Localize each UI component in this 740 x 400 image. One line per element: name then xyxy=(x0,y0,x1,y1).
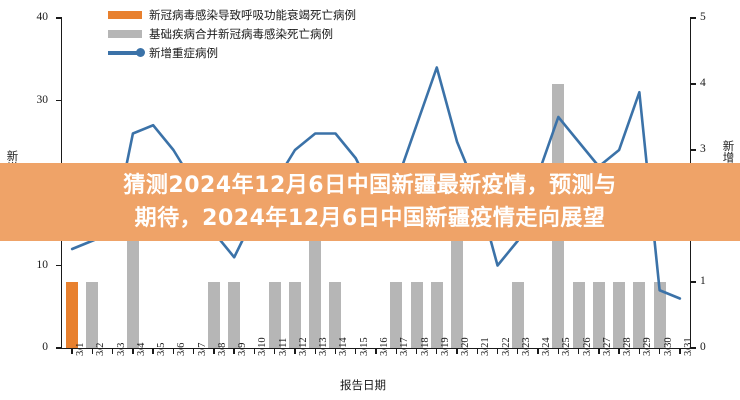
overlay-banner: 猜测2024年12月6日中国新疆最新疫情，预测与 期待，2024年12月6日中国… xyxy=(0,163,740,241)
x-tick xyxy=(497,349,498,354)
x-tick xyxy=(558,349,559,354)
x-tick xyxy=(618,349,619,354)
x-tick xyxy=(254,349,255,354)
x-tick-label-3-31: 3/31 xyxy=(684,337,695,356)
x-tick xyxy=(477,349,478,354)
chart-legend: 新冠病毒感染导致呼吸功能衰竭死亡病例基础疾病合并新冠病毒感染死亡病例新增重症病例 xyxy=(108,6,356,63)
legend-label: 基础疾病合并新冠病毒感染死亡病例 xyxy=(149,26,333,42)
x-tick-label-3-27: 3/27 xyxy=(603,337,614,356)
x-tick xyxy=(315,349,316,354)
x-tick-label-3-13: 3/13 xyxy=(319,337,330,356)
x-tick-label-3-10: 3/10 xyxy=(258,337,269,356)
y-tick-left xyxy=(56,347,62,348)
x-tick xyxy=(112,349,113,354)
y-tick-label-right: 1 xyxy=(700,276,730,288)
x-tick-label-3-28: 3/28 xyxy=(623,337,634,356)
x-tick xyxy=(355,349,356,354)
x-tick xyxy=(233,349,234,354)
x-tick-label-3-26: 3/26 xyxy=(583,337,594,356)
x-tick-label-3-18: 3/18 xyxy=(421,337,432,356)
x-tick-label-3-14: 3/14 xyxy=(339,337,350,356)
x-tick xyxy=(335,349,336,354)
y-tick-label-right: 0 xyxy=(700,342,730,354)
x-tick-label-3-4: 3/4 xyxy=(137,343,148,356)
y-tick-left xyxy=(56,17,62,18)
x-tick xyxy=(294,349,295,354)
watermark: @淡斋达原 xyxy=(606,372,709,396)
x-tick xyxy=(659,349,660,354)
x-tick xyxy=(456,349,457,354)
y-tick-label-left: 40 xyxy=(18,12,48,24)
banner-line-1: 猜测2024年12月6日中国新疆最新疫情，预测与 xyxy=(123,169,616,202)
weibo-icon xyxy=(606,373,625,396)
x-tick xyxy=(639,349,640,354)
x-tick-label-3-29: 3/29 xyxy=(643,337,654,356)
y-tick-right xyxy=(690,281,696,282)
x-tick-label-3-6: 3/6 xyxy=(177,343,188,356)
y-tick-label-right: 5 xyxy=(700,12,730,24)
y-tick-right xyxy=(690,83,696,84)
y-tick-label-right: 4 xyxy=(700,78,730,90)
x-tick xyxy=(396,349,397,354)
x-tick xyxy=(92,349,93,354)
x-tick-label-3-8: 3/8 xyxy=(218,343,229,356)
x-tick xyxy=(152,349,153,354)
x-tick-label-3-21: 3/21 xyxy=(481,337,492,356)
x-tick-label-3-7: 3/7 xyxy=(198,343,209,356)
y-tick-label-left: 30 xyxy=(18,95,48,107)
legend-swatch-bar xyxy=(108,11,142,19)
x-tick-label-3-23: 3/23 xyxy=(522,337,533,356)
x-tick xyxy=(537,349,538,354)
watermark-text: @淡斋达原 xyxy=(629,372,709,396)
legend-label: 新冠病毒感染导致呼吸功能衰竭死亡病例 xyxy=(149,7,356,23)
x-tick-label-3-11: 3/11 xyxy=(279,338,290,356)
x-tick-label-3-12: 3/12 xyxy=(299,337,310,356)
x-tick xyxy=(193,349,194,354)
y-tick-label-left: 10 xyxy=(18,260,48,272)
legend-item-0: 新冠病毒感染导致呼吸功能衰竭死亡病例 xyxy=(108,6,356,23)
x-tick xyxy=(375,349,376,354)
x-tick xyxy=(213,349,214,354)
legend-item-1: 基础疾病合并新冠病毒感染死亡病例 xyxy=(108,25,356,42)
y-tick-right xyxy=(690,17,696,18)
y-tick-left xyxy=(56,265,62,266)
x-tick xyxy=(71,349,72,354)
x-tick-label-3-22: 3/22 xyxy=(502,337,513,356)
x-tick xyxy=(173,349,174,354)
x-tick-label-3-1: 3/1 xyxy=(76,343,87,356)
x-tick-label-3-24: 3/24 xyxy=(542,337,553,356)
x-tick-label-3-9: 3/9 xyxy=(238,343,249,356)
legend-label: 新增重症病例 xyxy=(149,45,218,61)
x-tick-label-3-16: 3/16 xyxy=(380,337,391,356)
x-tick-label-3-17: 3/17 xyxy=(400,337,411,356)
legend-line-marker xyxy=(136,48,145,57)
legend-swatch-bar xyxy=(108,30,142,38)
x-tick xyxy=(598,349,599,354)
x-tick xyxy=(679,349,680,354)
x-tick-label-3-3: 3/3 xyxy=(117,343,128,356)
x-tick-label-3-5: 3/5 xyxy=(157,343,168,356)
x-tick xyxy=(274,349,275,354)
y-tick-left xyxy=(56,100,62,101)
x-tick xyxy=(132,349,133,354)
banner-line-2: 期待，2024年12月6日中国新疆疫情走向展望 xyxy=(135,202,606,235)
x-tick xyxy=(416,349,417,354)
x-tick-label-3-19: 3/19 xyxy=(441,337,452,356)
chart-canvas: 0102030400123453/13/23/33/43/53/63/73/83… xyxy=(0,0,740,400)
x-tick-label-3-30: 3/30 xyxy=(664,337,675,356)
x-tick-label-3-2: 3/2 xyxy=(96,343,107,356)
y-tick-label-left: 0 xyxy=(18,342,48,354)
x-tick xyxy=(517,349,518,354)
x-tick xyxy=(436,349,437,354)
x-tick-label-3-25: 3/25 xyxy=(562,337,573,356)
x-axis-label: 报告日期 xyxy=(340,380,386,392)
y-tick-right xyxy=(690,149,696,150)
x-tick-label-3-15: 3/15 xyxy=(360,337,371,356)
x-tick xyxy=(578,349,579,354)
legend-swatch-line xyxy=(108,51,142,55)
x-tick-label-3-20: 3/20 xyxy=(461,337,472,356)
legend-item-2: 新增重症病例 xyxy=(108,44,356,61)
